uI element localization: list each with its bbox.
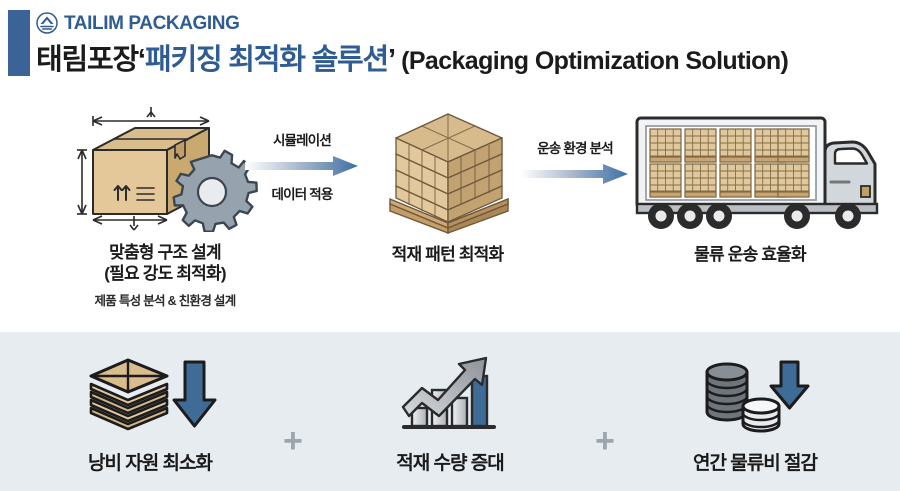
title-korean-blue: 패키징 최적화 솔루션	[145, 36, 388, 78]
benefit-cost-saving-label: 연간 물류비 절감	[640, 448, 870, 475]
title-korean-dark: 태림포장	[36, 36, 138, 78]
flow-step-design-caption: 맞춤형 구조 설계 (필요 강도 최적화) 제품 특성 분석 & 친환경 설계	[40, 242, 290, 309]
brand-lockup: TAILIM PACKAGING	[36, 12, 240, 34]
tailim-emblem-icon	[36, 12, 58, 34]
benefit-separator-plus: +	[595, 424, 615, 458]
benefit-waste-reduction-label: 낭비 자원 최소화	[35, 448, 265, 475]
benefit-separator-plus: +	[283, 424, 303, 458]
benefit-load-increase: 적재 수량 증대	[335, 354, 565, 475]
page-title: 태림포장 ‘ 패키징 최적화 솔루션 ’ (Packaging Optimiza…	[36, 36, 788, 78]
coin-stacks-down-arrow-icon	[640, 354, 870, 434]
flow-step-design-label-line2: (필요 강도 최적화)	[40, 263, 290, 284]
right-arrow-icon	[520, 163, 630, 190]
flow-step-pallet-label: 적재 패턴 최적화	[360, 244, 535, 265]
flattened-carton-stack-down-arrow-icon	[35, 354, 265, 434]
flow-connector-simulation-text-above: 시뮬레이션	[243, 134, 361, 149]
flow-step-truck: 물류 운송 효율화	[615, 104, 885, 265]
benefit-waste-reduction: 낭비 자원 최소화	[35, 354, 265, 475]
infographic-page: TAILIM PACKAGING 태림포장 ‘ 패키징 최적화 솔루션 ’ (P…	[0, 0, 900, 491]
title-english: (Packaging Optimization Solution)	[401, 47, 788, 76]
benefit-load-increase-label: 적재 수량 증대	[335, 448, 565, 475]
page-header: TAILIM PACKAGING 태림포장 ‘ 패키징 최적화 솔루션 ’ (P…	[0, 0, 900, 92]
growth-bar-chart-up-arrow-icon	[335, 354, 565, 434]
flow-step-pallet: 적재 패턴 최적화	[360, 104, 535, 265]
flow-step-pallet-caption: 적재 패턴 최적화	[360, 244, 535, 265]
flow-connector-transport-analysis-text-above: 운송 환경 분석	[520, 142, 630, 157]
stacked-pallet-icon	[360, 104, 535, 234]
title-quote-close: ’	[388, 44, 395, 77]
process-flow: 맞춤형 구조 설계 (필요 강도 최적화) 제품 특성 분석 & 친환경 설계 …	[0, 92, 900, 324]
title-quote-open: ‘	[138, 44, 145, 77]
brand-name: TAILIM PACKAGING	[64, 14, 240, 33]
flow-step-truck-label: 물류 운송 효율화	[615, 244, 885, 265]
flow-connector-simulation: 시뮬레이션 데이터 적용	[243, 134, 361, 203]
loaded-truck-icon	[615, 104, 885, 234]
flow-step-truck-caption: 물류 운송 효율화	[615, 244, 885, 265]
benefits-panel: 낭비 자원 최소화 +	[0, 332, 900, 491]
benefit-cost-saving: 연간 물류비 절감	[640, 354, 870, 475]
flow-connector-simulation-text-below: 데이터 적용	[243, 188, 361, 203]
header-accent-bar	[8, 10, 30, 76]
flow-connector-transport-analysis: 운송 환경 분석	[520, 142, 630, 196]
flow-step-design-sublabel: 제품 특성 분석 & 친환경 설계	[40, 290, 290, 309]
flow-step-design-label-line1: 맞춤형 구조 설계	[40, 242, 290, 263]
right-arrow-icon	[243, 155, 361, 182]
